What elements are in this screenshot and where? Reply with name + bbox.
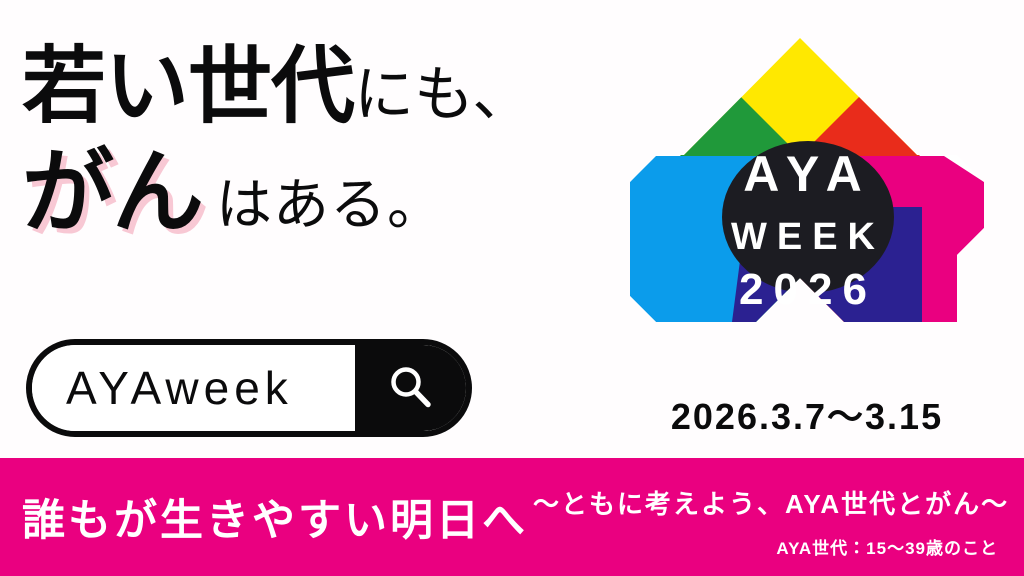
search-bar[interactable]: AYAweek [26,339,472,437]
logo-text-year: 2026 [739,265,877,314]
logo-text-week: WEEK [731,216,885,258]
poster-root: 若い世代にも、 がんはある。 AYAweek [0,0,1024,576]
aya-week-logo: AYA WEEK 2026 [612,32,1002,332]
headline-line-2-lead: がん [22,147,202,239]
headline-line-1: 若い世代にも、 [22,44,622,129]
headline-block: 若い世代にも、 がんはある。 [22,44,622,239]
search-input-value: AYAweek [66,361,293,415]
headline-line-1-lead: 若い世代 [22,39,354,133]
bottom-banner: 誰もが生きやすい明日へ 〜ともに考えよう、AYA世代とがん〜 AYA世代：15〜… [0,458,1024,576]
headline-line-2: がんはある。 [22,147,622,239]
banner-note-text: AYA世代：15〜39歳のこと [776,534,998,559]
banner-main-text: 誰もが生きやすい明日へ [22,486,528,548]
banner-sub-text: 〜ともに考えよう、AYA世代とがん〜 [533,484,1009,521]
headline-line-1-tail: にも、 [354,61,532,128]
search-button[interactable] [355,345,467,431]
logo-text-aya: AYA [743,146,872,202]
search-input[interactable]: AYAweek [32,345,355,431]
search-icon [384,361,438,415]
headline-line-2-tail: はある。 [216,173,444,236]
event-date: 2026.3.7〜3.15 [612,388,1002,440]
